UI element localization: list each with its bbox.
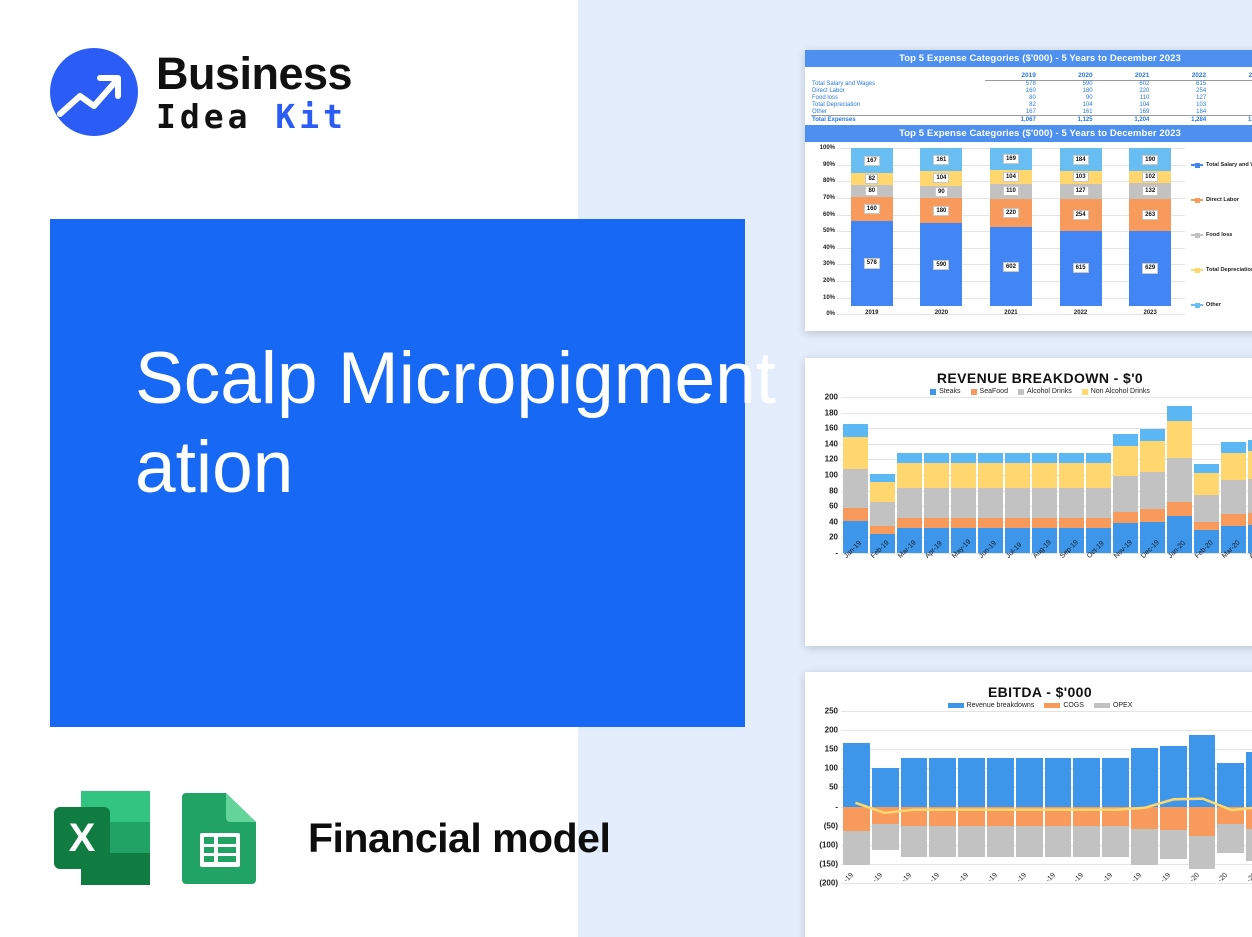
bar-segment xyxy=(1073,826,1100,857)
legend-swatch xyxy=(1044,703,1060,708)
negative-stack xyxy=(1016,807,1043,858)
bar-segment xyxy=(897,453,922,463)
bar-segment xyxy=(872,807,899,824)
bar-segment xyxy=(1194,473,1219,496)
bar-segment xyxy=(1045,826,1072,857)
axis-tick-label: (100) xyxy=(819,840,838,849)
legend-swatch xyxy=(1191,234,1203,236)
data-label: 80 xyxy=(865,186,878,196)
data-label: 615 xyxy=(1073,263,1089,273)
table-row: Total Depreciation82104104103102 xyxy=(811,101,1252,108)
bar-segment xyxy=(958,758,985,807)
data-label: 220 xyxy=(1003,208,1019,218)
legend-label: Food loss xyxy=(1206,232,1232,238)
brand-wordmark: Business Idea Kit xyxy=(156,51,352,133)
bar-segment: 263 xyxy=(1129,199,1171,231)
data-label: 180 xyxy=(933,206,949,216)
legend-item: SeaFood xyxy=(971,388,1008,395)
data-label: 110 xyxy=(1003,186,1019,196)
stacked-bar: 169104110220602 xyxy=(990,148,1032,306)
negative-stack xyxy=(1102,807,1129,858)
data-label: 602 xyxy=(1003,262,1019,272)
data-label: 104 xyxy=(1003,172,1019,182)
bar-segment: 190 xyxy=(1129,148,1171,171)
format-label: Financial model xyxy=(308,815,610,862)
data-label: 263 xyxy=(1142,210,1158,220)
revenue-chart-body: -20406080100120140160180200 Jan-19Feb-19… xyxy=(805,397,1252,587)
table-row: Other167161169184190 xyxy=(811,108,1252,115)
bar-segment xyxy=(1032,463,1057,488)
bar-segment xyxy=(1016,758,1043,807)
negative-stack xyxy=(1073,807,1100,858)
negative-stack xyxy=(1246,807,1252,861)
revenue-chart-y-axis: -20406080100120140160180200 xyxy=(807,397,841,587)
bar-segment: 160 xyxy=(851,197,893,221)
axis-tick-label: 50% xyxy=(823,228,835,234)
expenses-col-header: 2023 xyxy=(1212,71,1252,81)
ebitda-bar xyxy=(901,711,928,883)
axis-tick-label: 30% xyxy=(823,261,835,267)
axis-tick-label: 2019 xyxy=(851,310,893,316)
legend-item: Total Salary and Wages xyxy=(1191,162,1252,168)
bar-segment xyxy=(1059,488,1084,518)
stacked-bar: 184103127254615 xyxy=(1060,148,1102,306)
bar-segment xyxy=(1140,509,1165,521)
expenses-chart-y-axis: 0%10%20%30%40%50%60%70%80%90%100% xyxy=(807,148,837,320)
bar-segment xyxy=(1005,463,1030,488)
bar-segment xyxy=(843,508,868,521)
bar-segment xyxy=(987,807,1014,827)
bar-segment xyxy=(929,807,956,827)
bar-segment xyxy=(1086,463,1111,488)
bar-segment xyxy=(978,488,1003,518)
microsoft-excel-icon: X xyxy=(52,789,152,887)
axis-tick-label: 2020 xyxy=(920,310,962,316)
stacked-bar xyxy=(1221,397,1246,553)
bar-segment xyxy=(1248,440,1252,451)
poster-root: Business Idea Kit Scalp Micropigmentatio… xyxy=(0,0,1252,937)
bar-segment xyxy=(978,518,1003,528)
bar-segment xyxy=(897,518,922,528)
bar-segment xyxy=(843,831,870,866)
legend-label: Total Salary and Wages xyxy=(1206,162,1252,168)
bar-segment xyxy=(870,474,895,482)
data-label: 629 xyxy=(1142,263,1158,273)
legend-swatch xyxy=(1082,389,1088,395)
legend-item: Food loss xyxy=(1191,232,1232,238)
page-title: Scalp Micropigmentation xyxy=(135,334,815,512)
bar-segment xyxy=(1221,514,1246,526)
bar-segment: 629 xyxy=(1129,231,1171,307)
ebitda-bar xyxy=(843,711,870,883)
axis-tick-label: 90% xyxy=(823,162,835,168)
data-label: 132 xyxy=(1142,186,1158,196)
bar-segment xyxy=(901,758,928,807)
axis-tick-label: 200 xyxy=(825,393,838,402)
expenses-chart-x-axis: 20192020202120222023 xyxy=(837,306,1185,320)
bar-segment xyxy=(958,807,985,827)
legend-swatch xyxy=(1094,703,1110,708)
ebitda-bar xyxy=(1217,711,1244,883)
stacked-bar xyxy=(978,397,1003,553)
data-label: 167 xyxy=(864,156,880,166)
legend-item: Non Alcohol Drinks xyxy=(1082,388,1150,395)
expenses-chart-legend: Total Salary and WagesDirect LaborFood l… xyxy=(1187,148,1252,320)
data-label: 104 xyxy=(933,173,949,183)
axis-tick-label: 120 xyxy=(825,455,838,464)
ebitda-chart-y-axis: 25020015010050-(50)(100)(150)(200) xyxy=(807,711,841,911)
bar-segment xyxy=(1248,451,1252,479)
table-row: Total Expenses1,0671,1251,2041,2841,316 xyxy=(811,115,1252,123)
legend-label: Other xyxy=(1206,302,1221,308)
negative-stack xyxy=(1160,807,1187,860)
bar-segment xyxy=(1167,421,1192,458)
axis-tick-label: 250 xyxy=(825,707,838,716)
bar-segment xyxy=(1160,830,1187,859)
bar-segment xyxy=(1167,502,1192,517)
bar-segment xyxy=(843,424,868,437)
axis-tick-label: 2021 xyxy=(990,310,1032,316)
bar-segment xyxy=(1189,807,1216,836)
ebitda-bar xyxy=(1246,711,1252,883)
bar-segment xyxy=(843,437,868,469)
legend-label: Total Depreciation xyxy=(1206,267,1252,273)
data-label: 578 xyxy=(864,258,880,268)
data-label: 82 xyxy=(865,174,878,184)
bar-segment xyxy=(901,826,928,857)
legend-swatch xyxy=(948,703,964,708)
bar-segment xyxy=(1102,807,1129,827)
legend-item: Revenue breakdowns xyxy=(948,702,1035,709)
bar-segment xyxy=(1032,488,1057,518)
ebitda-bar xyxy=(1131,711,1158,883)
data-label: 103 xyxy=(1073,172,1089,182)
stacked-bar xyxy=(1140,397,1165,553)
axis-tick-label: 20% xyxy=(823,278,835,284)
stacked-bar xyxy=(1059,397,1084,553)
bar-segment: 615 xyxy=(1060,231,1102,307)
axis-tick-label: 160 xyxy=(825,424,838,433)
bar-segment: 590 xyxy=(920,223,962,306)
bar-segment xyxy=(951,518,976,528)
data-label: 590 xyxy=(933,260,949,270)
bar-segment xyxy=(1140,441,1165,472)
bar-segment: 110 xyxy=(990,184,1032,198)
legend-label: Steaks xyxy=(939,388,960,395)
bar-segment xyxy=(1194,464,1219,473)
bar-segment xyxy=(843,743,870,806)
legend-swatch xyxy=(1191,164,1203,166)
bar-segment xyxy=(951,453,976,463)
axis-tick-label: (200) xyxy=(819,879,838,888)
bar-segment: 90 xyxy=(920,186,962,199)
bar-segment: 103 xyxy=(1060,171,1102,184)
negative-stack xyxy=(1217,807,1244,854)
bar-segment xyxy=(924,453,949,463)
legend-item: Direct Labor xyxy=(1191,197,1239,203)
negative-stack xyxy=(929,807,956,858)
legend-item: Alcohol Drinks xyxy=(1018,388,1072,395)
bar-segment xyxy=(872,768,899,807)
negative-stack xyxy=(872,807,899,850)
ebitda-chart-title: EBITDA - $'000 xyxy=(805,672,1252,702)
bar-segment: 104 xyxy=(920,171,962,186)
expenses-chart-title: Top 5 Expense Categories ($'000) - 5 Yea… xyxy=(805,125,1252,142)
data-label: 190 xyxy=(1142,155,1158,165)
stacked-bar xyxy=(870,397,895,553)
legend-swatch xyxy=(971,389,977,395)
bar-segment: 220 xyxy=(990,199,1032,228)
ebitda-bar xyxy=(1073,711,1100,883)
bar-segment xyxy=(1189,735,1216,806)
bar-segment xyxy=(1032,453,1057,463)
bar-segment: 104 xyxy=(990,170,1032,184)
bar-segment xyxy=(897,488,922,518)
bar-segment: 184 xyxy=(1060,148,1102,171)
bar-segment: 578 xyxy=(851,221,893,307)
bar-segment xyxy=(978,453,1003,463)
ebitda-bar xyxy=(929,711,956,883)
bar-segment xyxy=(1059,463,1084,488)
axis-tick-label: (150) xyxy=(819,859,838,868)
data-label: 90 xyxy=(935,187,948,197)
bar-segment xyxy=(1246,829,1252,861)
ebitda-bar xyxy=(1160,711,1187,883)
stacked-bar xyxy=(1005,397,1030,553)
bar-segment xyxy=(1059,518,1084,528)
bar-segment xyxy=(1248,479,1252,513)
axis-tick-label: 10% xyxy=(823,295,835,301)
ebitda-bar xyxy=(1016,711,1043,883)
data-label: 169 xyxy=(1003,154,1019,164)
axis-tick-label: 2023 xyxy=(1129,310,1171,316)
bar-segment xyxy=(1073,758,1100,807)
axis-tick-label: 70% xyxy=(823,195,835,201)
stacked-bar xyxy=(1032,397,1057,553)
bar-segment xyxy=(1045,807,1072,827)
bar-segment xyxy=(870,526,895,534)
expenses-col-header: 2020 xyxy=(1042,71,1099,81)
expenses-col-header: 2019 xyxy=(985,71,1042,81)
bar-segment xyxy=(1160,807,1187,831)
bar-segment: 102 xyxy=(1129,171,1171,183)
revenue-screenshot-card: REVENUE BREAKDOWN - $'0 SteaksSeaFoodAlc… xyxy=(805,358,1252,646)
bar-segment: 127 xyxy=(1060,184,1102,200)
bar-segment xyxy=(1113,476,1138,512)
bar-segment xyxy=(1194,522,1219,531)
ebitda-bar xyxy=(1045,711,1072,883)
bar-segment xyxy=(870,482,895,502)
legend-swatch xyxy=(930,389,936,395)
brand-kit-text: Kit xyxy=(275,97,347,136)
bar-segment xyxy=(1160,746,1187,807)
brand-logo: Business Idea Kit xyxy=(50,48,352,136)
bar-segment xyxy=(987,826,1014,857)
bar-segment xyxy=(870,502,895,526)
ebitda-chart-x-axis: -19-19-19-19-19-19-19-19-19-19-19-19-20-… xyxy=(841,877,1252,911)
bar-segment xyxy=(1073,807,1100,827)
axis-tick-label: 200 xyxy=(825,726,838,735)
bar-segment xyxy=(1246,807,1252,829)
legend-item: Other xyxy=(1191,302,1221,308)
legend-swatch xyxy=(1018,389,1024,395)
bar-segment xyxy=(1005,518,1030,528)
axis-tick-label: 140 xyxy=(825,439,838,448)
bar-segment: 602 xyxy=(990,227,1032,306)
axis-tick-label: 60 xyxy=(829,502,838,511)
bar-segment: 254 xyxy=(1060,199,1102,230)
legend-label: COGS xyxy=(1063,702,1084,709)
bar-segment: 161 xyxy=(920,148,962,171)
table-row: Food loss8090110127132 xyxy=(811,95,1252,102)
ebitda-bar xyxy=(987,711,1014,883)
bar-segment xyxy=(951,488,976,518)
bar-segment xyxy=(1131,748,1158,806)
axis-tick-label: 40% xyxy=(823,245,835,251)
bar-segment xyxy=(1113,512,1138,524)
revenue-chart-title: REVENUE BREAKDOWN - $'0 xyxy=(805,358,1252,388)
bar-segment xyxy=(872,824,899,850)
bar-segment xyxy=(987,758,1014,807)
bar-segment xyxy=(1217,807,1244,824)
google-sheets-icon xyxy=(174,789,266,887)
bar-segment xyxy=(924,518,949,528)
stacked-bar xyxy=(843,397,868,553)
bar-segment xyxy=(901,807,928,827)
bar-segment xyxy=(1016,807,1043,827)
format-badges: X Financial model xyxy=(52,789,610,887)
legend-swatch xyxy=(1191,199,1203,201)
bar-segment xyxy=(1032,518,1057,528)
expenses-chart-plot: 1678280160578161104901805901691041102206… xyxy=(837,148,1185,320)
stacked-bar: 16110490180590 xyxy=(920,148,962,306)
legend-label: SeaFood xyxy=(980,388,1008,395)
bar-segment xyxy=(1194,495,1219,522)
stacked-bar xyxy=(1086,397,1111,553)
table-row: Total Salary and Wages578590602615629 xyxy=(811,81,1252,88)
legend-item: Total Depreciation xyxy=(1191,267,1252,273)
bar-segment xyxy=(1131,807,1158,829)
stacked-bar xyxy=(1248,397,1252,553)
legend-swatch xyxy=(1191,269,1203,271)
bar-segment xyxy=(1167,406,1192,421)
data-label: 161 xyxy=(933,155,949,165)
bar-segment xyxy=(1016,826,1043,857)
bar-segment xyxy=(1221,453,1246,480)
growth-arrow-circle-icon xyxy=(50,48,138,136)
bar-segment xyxy=(843,469,868,508)
bar-segment xyxy=(1005,453,1030,463)
negative-stack xyxy=(1189,807,1216,870)
axis-tick-label: 80% xyxy=(823,178,835,184)
bar-segment xyxy=(1221,442,1246,454)
negative-stack xyxy=(1131,807,1158,866)
bar-segment xyxy=(1248,513,1252,525)
brand-idea-text: Idea xyxy=(156,97,251,136)
legend-label: Direct Labor xyxy=(1206,197,1239,203)
axis-tick-label: 80 xyxy=(829,486,838,495)
bar-segment xyxy=(1217,824,1244,853)
expenses-table-title: Top 5 Expense Categories ($'000) - 5 Yea… xyxy=(805,50,1252,67)
stacked-bar xyxy=(1194,397,1219,553)
legend-label: Alcohol Drinks xyxy=(1027,388,1072,395)
expenses-stacked-chart: 0%10%20%30%40%50%60%70%80%90%100% 167828… xyxy=(805,142,1252,322)
bar-segment xyxy=(1167,458,1192,502)
bar-segment: 169 xyxy=(990,148,1032,170)
expenses-table: 20192020202120222023Total Salary and Wag… xyxy=(805,67,1252,125)
ebitda-bar xyxy=(1189,711,1216,883)
negative-stack xyxy=(958,807,985,858)
axis-tick-label: 40 xyxy=(829,517,838,526)
ebitda-chart-legend: Revenue breakdownsCOGSOPEX xyxy=(805,702,1252,711)
axis-tick-label: 20 xyxy=(829,533,838,542)
axis-tick-label: 2022 xyxy=(1060,310,1102,316)
negative-stack xyxy=(843,807,870,866)
bar-segment xyxy=(929,826,956,857)
stacked-bar xyxy=(924,397,949,553)
title-banner: Scalp Micropigmentation xyxy=(50,219,745,727)
negative-stack xyxy=(987,807,1014,858)
data-label: 127 xyxy=(1073,186,1089,196)
expenses-col-header: 2022 xyxy=(1155,71,1212,81)
bar-segment xyxy=(1140,472,1165,509)
negative-stack xyxy=(901,807,928,858)
expenses-screenshot-card: Top 5 Expense Categories ($'000) - 5 Yea… xyxy=(805,50,1252,331)
revenue-chart-plot: Jan-19Feb-19Mar-19Apr-19May-19Jun-19Jul-… xyxy=(841,397,1252,587)
bar-segment xyxy=(924,463,949,488)
brand-ideakit-text: Idea Kit xyxy=(156,100,352,133)
stacked-bar xyxy=(951,397,976,553)
data-label: 184 xyxy=(1073,155,1089,165)
bar-segment xyxy=(1113,434,1138,446)
legend-label: Non Alcohol Drinks xyxy=(1091,388,1150,395)
bar-segment xyxy=(1140,429,1165,441)
ebitda-chart-plot: -19-19-19-19-19-19-19-19-19-19-19-19-20-… xyxy=(841,711,1252,911)
bar-segment xyxy=(1086,518,1111,528)
bar-segment xyxy=(1113,446,1138,476)
bar-segment xyxy=(897,463,922,488)
axis-tick-label: - xyxy=(835,802,838,811)
bar-segment xyxy=(929,758,956,807)
bar-segment xyxy=(978,463,1003,488)
legend-item: OPEX xyxy=(1094,702,1132,709)
ebitda-screenshot-card: EBITDA - $'000 Revenue breakdownsCOGSOPE… xyxy=(805,672,1252,937)
bar-segment xyxy=(1086,488,1111,518)
bar-segment: 180 xyxy=(920,198,962,223)
bar-segment xyxy=(1102,826,1129,857)
bar-segment: 82 xyxy=(851,173,893,185)
data-label: 160 xyxy=(864,204,880,214)
stacked-bar xyxy=(1167,397,1192,553)
bar-segment xyxy=(843,807,870,831)
bar-segment xyxy=(1221,480,1246,514)
axis-tick-label: 100 xyxy=(825,764,838,773)
bar-segment xyxy=(1131,829,1158,866)
bar-segment: 132 xyxy=(1129,183,1171,199)
legend-label: Revenue breakdowns xyxy=(967,702,1035,709)
revenue-chart-x-axis: Jan-19Feb-19Mar-19Apr-19May-19Jun-19Jul-… xyxy=(841,553,1252,587)
bar-segment xyxy=(1102,758,1129,807)
negative-stack xyxy=(1045,807,1072,858)
bar-segment xyxy=(1059,453,1084,463)
bar-segment xyxy=(1086,453,1111,463)
bar-segment: 167 xyxy=(851,148,893,173)
bar-segment xyxy=(951,463,976,488)
axis-tick-label: 60% xyxy=(823,212,835,218)
stacked-bar: 1678280160578 xyxy=(851,148,893,306)
stacked-bar xyxy=(897,397,922,553)
data-label: 254 xyxy=(1073,210,1089,220)
